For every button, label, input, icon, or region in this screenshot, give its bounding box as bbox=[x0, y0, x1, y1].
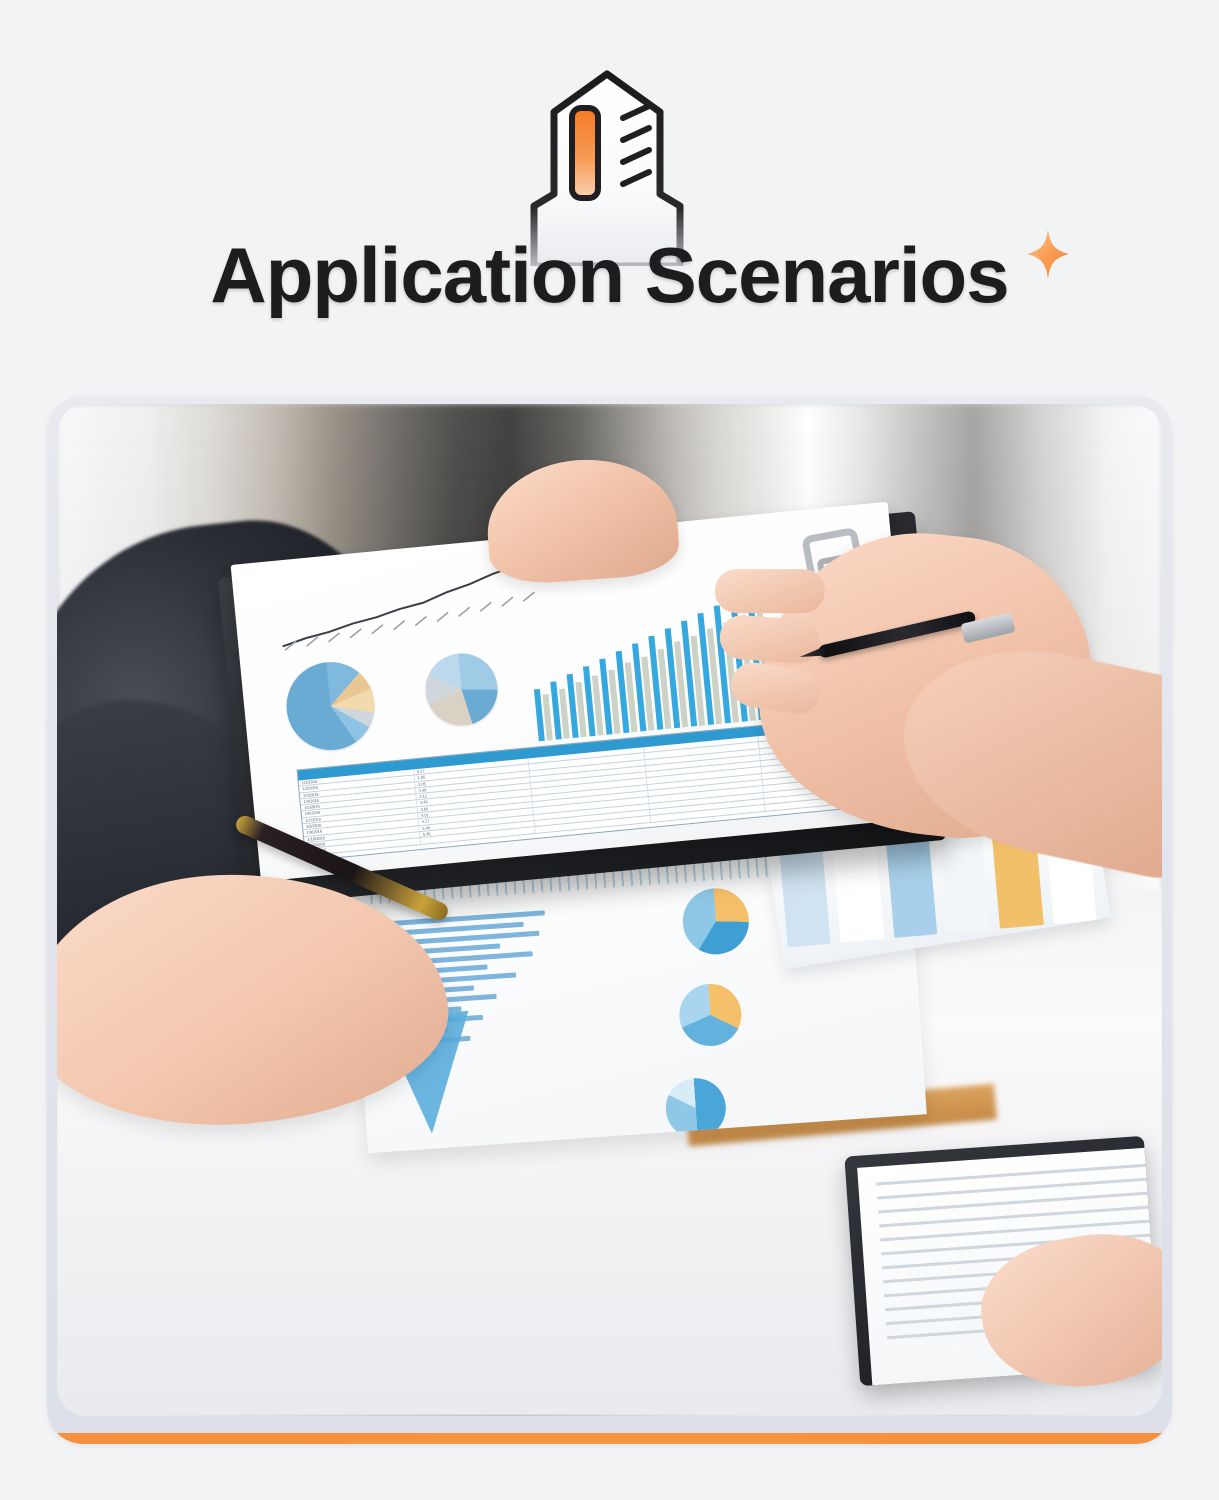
photo-scene: 1/1/2016 0.17 1/2/2016 1.05 bbox=[57, 404, 1162, 1416]
page-header: Application Scenarios bbox=[0, 0, 1219, 390]
finger bbox=[718, 614, 821, 665]
sparkle-icon bbox=[1026, 228, 1070, 280]
report-pie-2 bbox=[677, 982, 743, 1048]
report-pie-1 bbox=[681, 886, 751, 956]
finger bbox=[715, 569, 825, 613]
sheet-pie-chart-1 bbox=[283, 658, 379, 754]
scenario-photo: 1/1/2016 0.17 1/2/2016 1.05 bbox=[57, 404, 1162, 1416]
page-title: Application Scenarios bbox=[210, 236, 1008, 314]
photo-frame: 1/1/2016 0.17 1/2/2016 1.05 bbox=[47, 396, 1172, 1444]
sheet-pie-chart-2 bbox=[422, 650, 501, 729]
